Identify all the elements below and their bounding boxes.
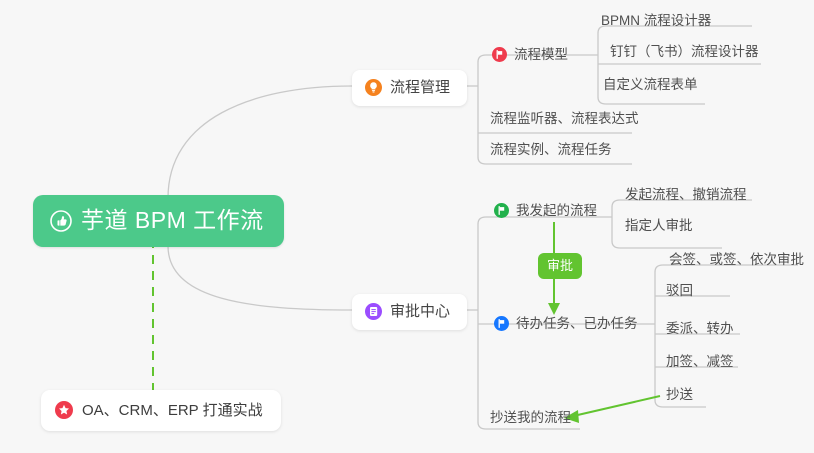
leaf-label: 指定人审批 xyxy=(625,219,693,233)
leaf-label: 抄送 xyxy=(666,388,693,402)
leaf-assignee-approval[interactable]: 指定人审批 xyxy=(625,219,693,233)
wire-root-to-approval-center xyxy=(168,246,352,310)
leaf-label: 待办任务、已办任务 xyxy=(516,317,638,331)
leaf-listener-expression[interactable]: 流程监听器、流程表达式 xyxy=(490,112,639,126)
leaf-start-cancel-process[interactable]: 发起流程、撤销流程 xyxy=(625,188,747,202)
leaf-label: BPMN 流程设计器 xyxy=(601,14,711,28)
branch-node-process-management[interactable]: 流程管理 xyxy=(352,70,467,106)
flag-icon xyxy=(494,203,509,218)
note-card-label: OA、CRM、ERP 打通实战 xyxy=(82,403,263,418)
leaf-label: 发起流程、撤销流程 xyxy=(625,188,747,202)
leaf-label: 加签、减签 xyxy=(666,355,734,369)
leaf-bpmn-designer[interactable]: BPMN 流程设计器 xyxy=(601,14,711,28)
leaf-label: 我发起的流程 xyxy=(516,204,597,218)
note-card-integration[interactable]: OA、CRM、ERP 打通实战 xyxy=(41,390,281,431)
branch-node-approval-center[interactable]: 审批中心 xyxy=(352,294,467,330)
leaf-add-remove-sign[interactable]: 加签、减签 xyxy=(666,355,734,369)
leaf-cc[interactable]: 抄送 xyxy=(666,388,693,402)
mindmap-canvas: 芋道 BPM 工作流 流程管理 流程模型 BPMN 流程设计器 钉钉（飞书）流程 xyxy=(0,0,814,453)
leaf-custom-form[interactable]: 自定义流程表单 xyxy=(603,78,698,92)
wire-root-to-process-management xyxy=(168,86,352,198)
leaf-instance-task[interactable]: 流程实例、流程任务 xyxy=(490,143,612,157)
wire-pm-child-3 xyxy=(478,157,632,164)
thumbs-up-icon xyxy=(50,210,72,232)
document-icon xyxy=(365,303,382,320)
leaf-label: 会签、或签、依次审批 xyxy=(669,253,804,267)
root-node[interactable]: 芋道 BPM 工作流 xyxy=(33,195,284,247)
leaf-label: 自定义流程表单 xyxy=(603,78,698,92)
leaf-my-started-processes[interactable]: 我发起的流程 xyxy=(494,203,597,218)
arrow-cc-to-cc-list xyxy=(569,396,660,417)
leaf-delegate-transfer[interactable]: 委派、转办 xyxy=(666,322,734,336)
leaf-label: 驳回 xyxy=(666,284,693,298)
leaf-reject[interactable]: 驳回 xyxy=(666,284,693,298)
leaf-label: 委派、转办 xyxy=(666,322,734,336)
leaf-label: 流程模型 xyxy=(514,48,568,62)
branch-label: 流程管理 xyxy=(390,80,450,95)
wire-ac-child-1 xyxy=(478,217,595,224)
leaf-cc-to-me[interactable]: 抄送我的流程 xyxy=(490,411,571,425)
approval-flow-tag[interactable]: 审批 xyxy=(538,253,582,279)
leaf-countersign[interactable]: 会签、或签、依次审批 xyxy=(669,253,804,267)
leaf-process-model[interactable]: 流程模型 xyxy=(492,47,568,62)
leaf-dingtalk-designer[interactable]: 钉钉（飞书）流程设计器 xyxy=(610,45,759,59)
arrowhead-approval-flow xyxy=(548,303,560,315)
leaf-label: 钉钉（飞书）流程设计器 xyxy=(610,45,759,59)
leaf-label: 流程监听器、流程表达式 xyxy=(490,112,639,126)
flag-icon xyxy=(494,316,509,331)
leaf-todo-done-tasks[interactable]: 待办任务、已办任务 xyxy=(494,316,638,331)
wire-model-child-3 xyxy=(598,97,705,104)
branch-label: 审批中心 xyxy=(390,304,450,319)
lightbulb-icon xyxy=(365,79,382,96)
wire-mine-child-2 xyxy=(612,241,722,248)
root-label: 芋道 BPM 工作流 xyxy=(81,209,264,232)
leaf-label: 抄送我的流程 xyxy=(490,411,571,425)
flag-icon xyxy=(492,47,507,62)
leaf-label: 流程实例、流程任务 xyxy=(490,143,612,157)
star-icon xyxy=(55,401,73,419)
